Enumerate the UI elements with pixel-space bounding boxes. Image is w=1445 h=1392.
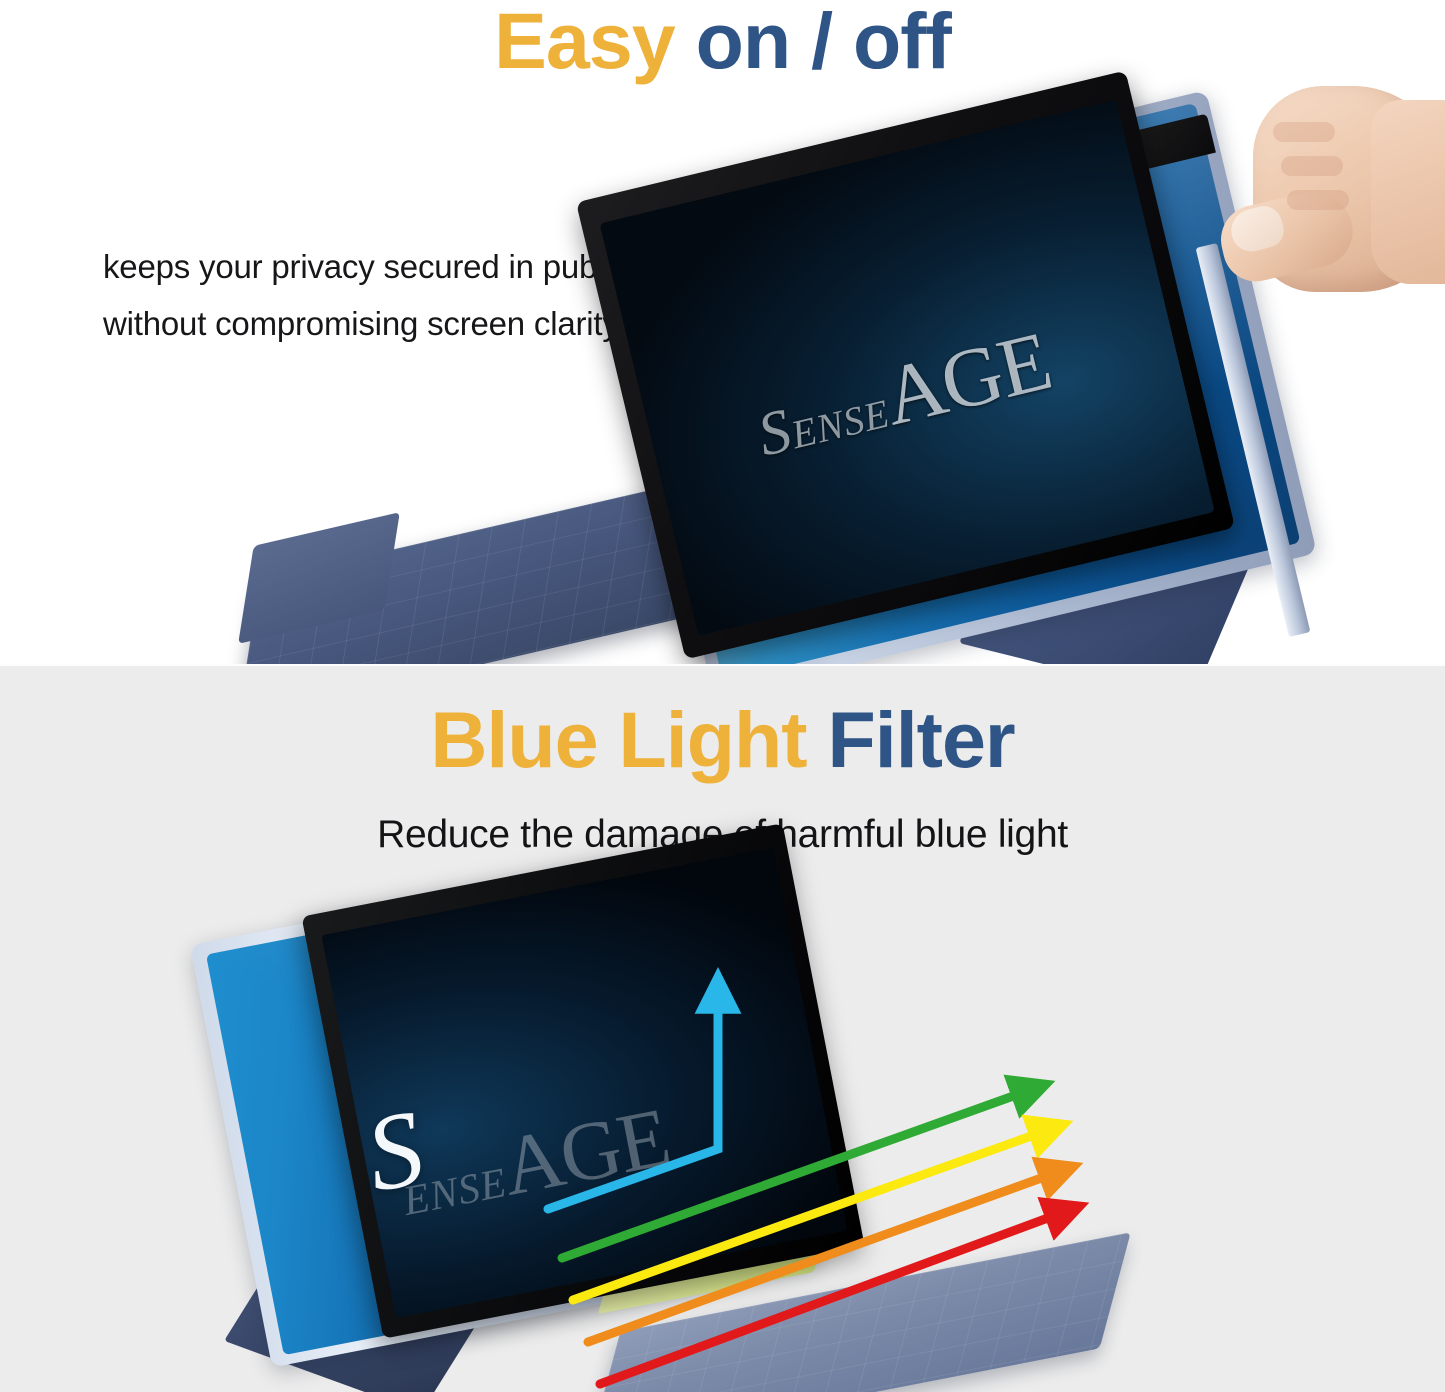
- product-feature-graphic: Easy on / off keeps your privacy secured…: [0, 0, 1445, 1392]
- knuckle-crease: [1281, 156, 1343, 176]
- panel-easy-on-off: Easy on / off keeps your privacy secured…: [0, 0, 1445, 666]
- filtered-screen-area: ENSEAGE: [321, 847, 847, 1318]
- hand-peeling-filter: [1135, 78, 1445, 368]
- logo-letters-ense: ENSE: [787, 391, 894, 458]
- knuckle-crease: [1287, 190, 1349, 210]
- privacy-filter-sheet: ENSEAGE: [301, 823, 864, 1339]
- heading-accent-word: Easy: [494, 0, 675, 85]
- heading-accent-word: Blue Light: [430, 695, 806, 784]
- heading-blue-light-filter: Blue Light Filter: [0, 694, 1445, 786]
- heading-easy-on-off: Easy on / off: [0, 0, 1445, 84]
- knuckle-crease: [1273, 122, 1335, 142]
- heading-dark-word: on / off: [696, 0, 951, 85]
- panel-blue-light-filter: Blue Light Filter Reduce the damage of h…: [0, 666, 1445, 1392]
- senseage-logo: SENSEAGE: [746, 313, 1059, 477]
- logo-letters-age: AGE: [495, 1091, 676, 1214]
- device-illustration-bottom: ENSEAGE S: [0, 862, 1445, 1392]
- senseage-logo-filtered: ENSEAGE: [392, 1089, 676, 1236]
- heading-dark-word: Filter: [827, 695, 1014, 784]
- hand-wrist: [1371, 100, 1445, 284]
- device-illustration-top: SENSEAGE: [230, 120, 1445, 666]
- logo-letters-age: AGE: [875, 315, 1059, 444]
